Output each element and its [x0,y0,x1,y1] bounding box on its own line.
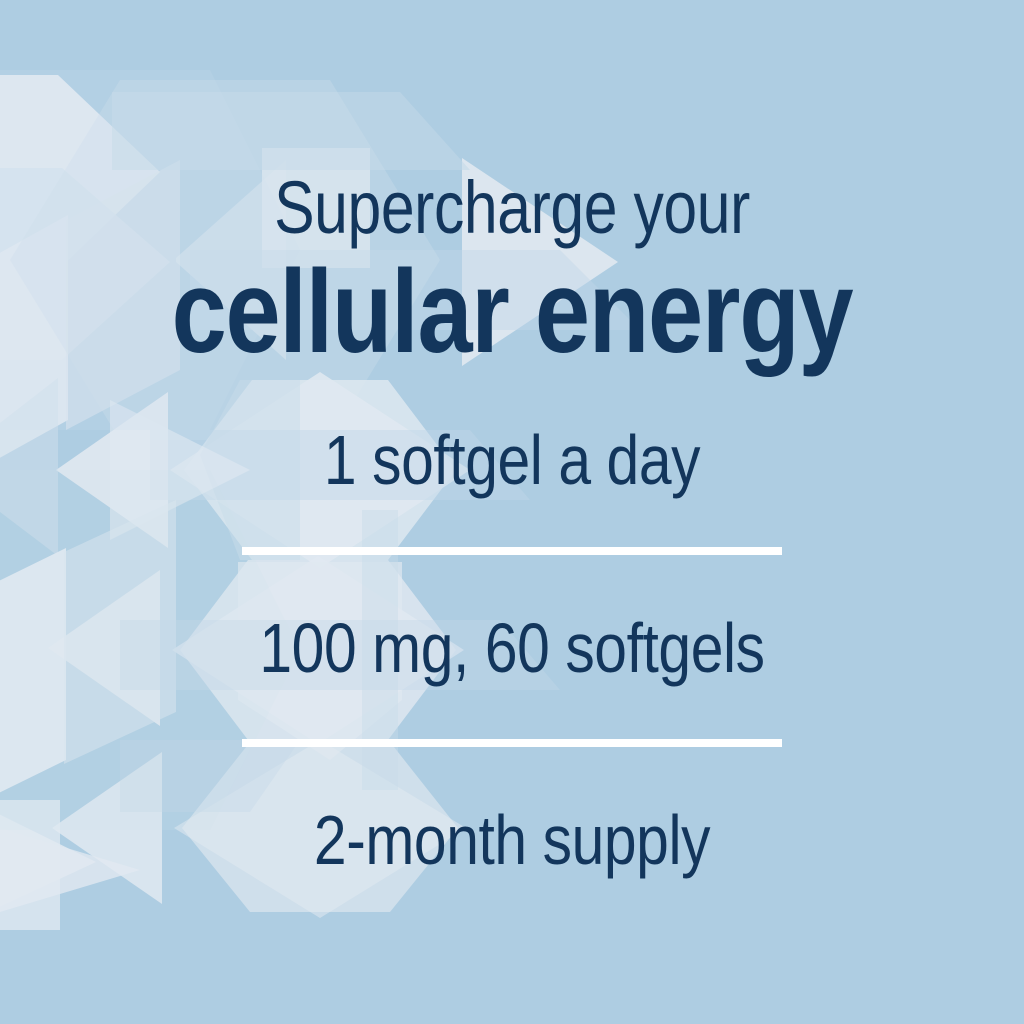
divider-above-supply [242,739,782,747]
fact-strength-count: 100 mg, 60 softgels [82,608,942,688]
callout-content: Supercharge your cellular energy 1 softg… [0,0,1024,1024]
divider-above-dosage [242,547,782,555]
page-title: cellular energy [82,248,942,376]
fact-dosage-frequency: 1 softgel a day [82,420,942,500]
headline-eyebrow: Supercharge your [92,166,932,250]
product-callout-card: Supercharge your cellular energy 1 softg… [0,0,1024,1024]
fact-supply-duration: 2-month supply [82,800,942,880]
